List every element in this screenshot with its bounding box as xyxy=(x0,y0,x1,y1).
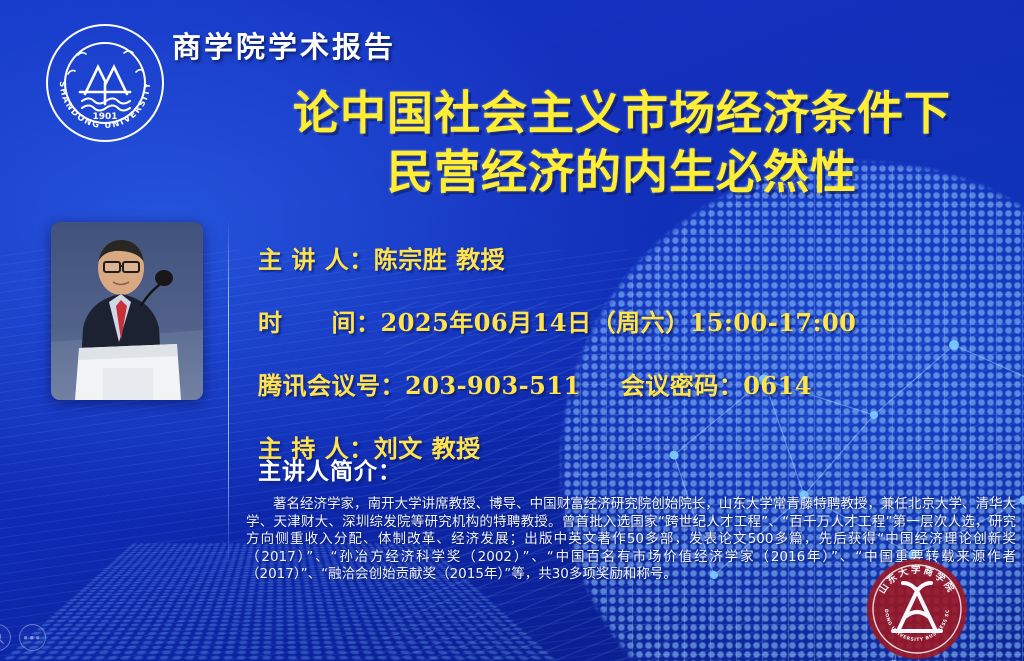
speaker-label: 主 讲 人： xyxy=(258,240,374,275)
lecture-poster: 1901 SHANDONG UNIVERSITY 商学院学术报告 论中国社会主义… xyxy=(0,0,1024,661)
info-row-speaker: 主 讲 人：陈宗胜 教授 xyxy=(258,240,998,275)
speaker-value: 陈宗胜 教授 xyxy=(374,245,505,274)
page-title: 论中国社会主义市场经济条件下 民营经济的内生必然性 xyxy=(232,84,1012,202)
vertical-divider xyxy=(228,218,229,570)
bio-heading: 主讲人简介： xyxy=(258,452,402,486)
shandong-university-logo: 1901 SHANDONG UNIVERSITY xyxy=(44,22,166,144)
shandong-university-business-school-seal: 山东大学商学院 SHANDONG UNIVERSITY BUSINESS SCH… xyxy=(865,557,969,661)
speaker-photo xyxy=(51,222,203,400)
viewer-controls[interactable]: ••• xyxy=(0,624,46,651)
passcode-label: 会议密码： xyxy=(621,366,744,401)
info-row-time: 时 间：2025年06月14日（周六）15:00-17:00 xyxy=(258,303,998,338)
title-line-1: 论中国社会主义市场经济条件下 xyxy=(232,84,1012,143)
meeting-id-label: 腾讯会议号： xyxy=(258,366,405,401)
more-options-button[interactable]: ••• xyxy=(19,624,46,651)
passcode-value: 0614 xyxy=(743,371,812,400)
page-kicker: 商学院学术报告 xyxy=(172,24,396,66)
meeting-id-value: 203-903-511 xyxy=(405,371,581,400)
info-row-meeting: 腾讯会议号：203-903-511会议密码：0614 xyxy=(258,366,998,401)
zoom-search-button[interactable] xyxy=(0,624,11,651)
speaker-photo-illustration xyxy=(51,222,203,400)
search-icon xyxy=(0,631,4,644)
time-value: 2025年06月14日（周六）15:00-17:00 xyxy=(381,308,857,337)
time-label: 时 间： xyxy=(258,303,381,338)
title-line-2: 民营经济的内生必然性 xyxy=(232,143,1012,202)
